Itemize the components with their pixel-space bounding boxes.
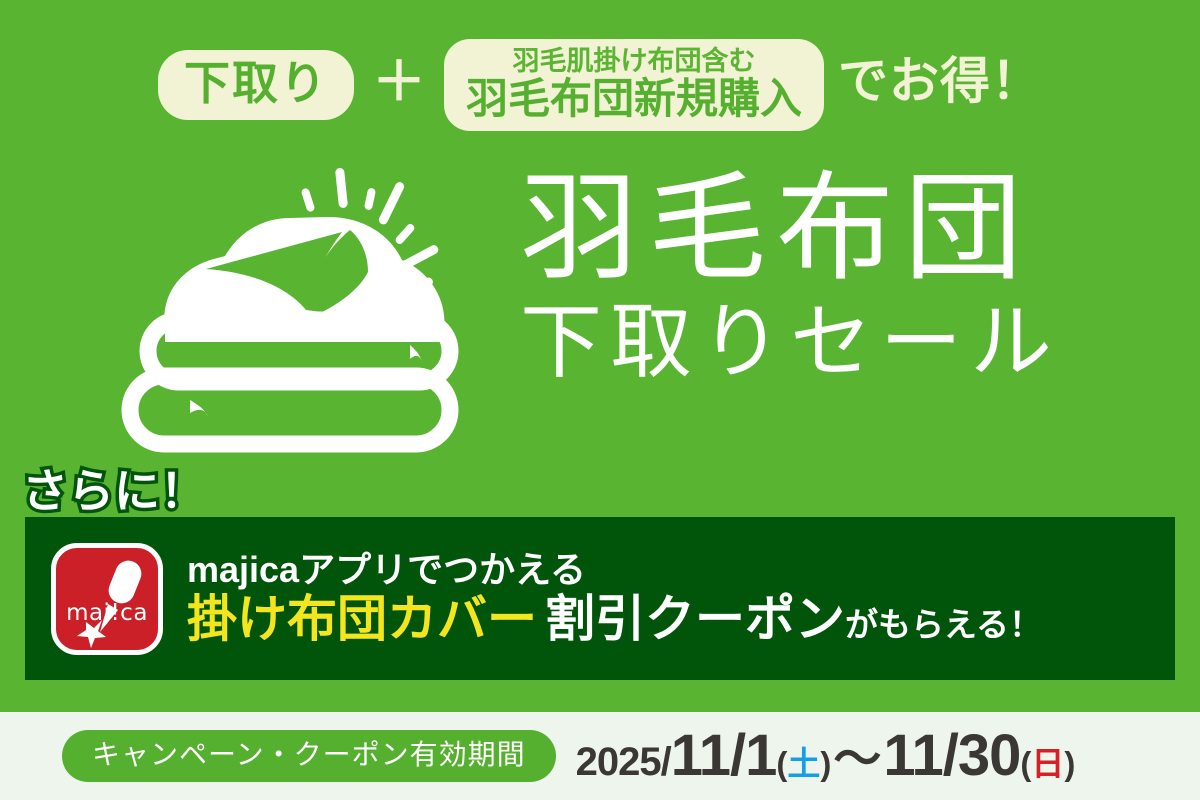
period-end-paren-close: ) bbox=[1064, 747, 1075, 780]
plus-icon: ＋ bbox=[368, 55, 430, 115]
folded-futon-icon bbox=[110, 160, 490, 470]
period-start-paren-close: ) bbox=[820, 747, 831, 780]
promo-banner: 下取り ＋ 羽毛肌掛け布団含む 羽毛布団新規購入 でお得！ bbox=[0, 0, 1200, 800]
purchase-pill-title: 羽毛布団新規購入 bbox=[466, 77, 802, 121]
coupon-item-highlight: 掛け布団カバー bbox=[187, 591, 537, 647]
period-start-weekday: 土 bbox=[787, 747, 820, 780]
majica-app-logo: maj!ca bbox=[51, 543, 163, 655]
majica-wordmark: maj!ca bbox=[56, 600, 158, 626]
period-start-paren-open: ( bbox=[776, 747, 787, 780]
trade-in-label: 下取り bbox=[184, 60, 328, 106]
period-end-paren-open: ( bbox=[1020, 747, 1031, 780]
campaign-period-bar: キャンペーン・クーポン有効期間 2025/ 11/1 ( 土 ) 〜 11/30… bbox=[0, 712, 1200, 800]
hero-title-block: 羽毛布団 下取りセール bbox=[520, 170, 1120, 384]
deal-text: でお得！ bbox=[838, 56, 1042, 114]
header-row: 下取り ＋ 羽毛肌掛け布団含む 羽毛布団新規購入 でお得！ bbox=[0, 30, 1200, 140]
majica-coupon-banner: maj!ca majicaアプリでつかえる 掛け布団カバー割引クーポンがもらえる… bbox=[25, 517, 1175, 680]
period-pill-label: キャンペーン・クーポン有効期間 bbox=[62, 730, 556, 782]
period-dates: 2025/ 11/1 ( 土 ) 〜 11/30 ( 日 ) bbox=[576, 727, 1076, 785]
period-end-weekday: 日 bbox=[1031, 747, 1064, 780]
page-subtitle: 下取りセール bbox=[520, 302, 1120, 384]
purchase-pill-subtitle: 羽毛肌掛け布団含む bbox=[512, 47, 755, 75]
period-range-separator: 〜 bbox=[831, 736, 883, 784]
coupon-suffix: がもらえる！ bbox=[845, 606, 1042, 643]
coupon-text-block: majicaアプリでつかえる 掛け布団カバー割引クーポンがもらえる！ bbox=[187, 552, 1042, 646]
period-end-date: 11/30 bbox=[883, 727, 1020, 785]
new-purchase-pill: 羽毛肌掛け布団含む 羽毛布団新規購入 bbox=[444, 39, 824, 131]
period-start-date: 11/1 bbox=[671, 727, 777, 785]
sarani-label: さらに！ bbox=[22, 468, 206, 514]
coupon-line-2: 掛け布団カバー割引クーポンがもらえる！ bbox=[187, 594, 1042, 645]
coupon-discount-label: 割引クーポン bbox=[545, 591, 845, 647]
trade-in-pill: 下取り bbox=[158, 50, 354, 120]
magic-wand-icon bbox=[56, 548, 158, 650]
coupon-line-1: majicaアプリでつかえる bbox=[187, 552, 1042, 589]
period-year: 2025/ bbox=[576, 742, 671, 782]
hero-section: 羽毛布団 下取りセール bbox=[0, 150, 1200, 470]
page-title: 羽毛布団 bbox=[520, 170, 1120, 288]
